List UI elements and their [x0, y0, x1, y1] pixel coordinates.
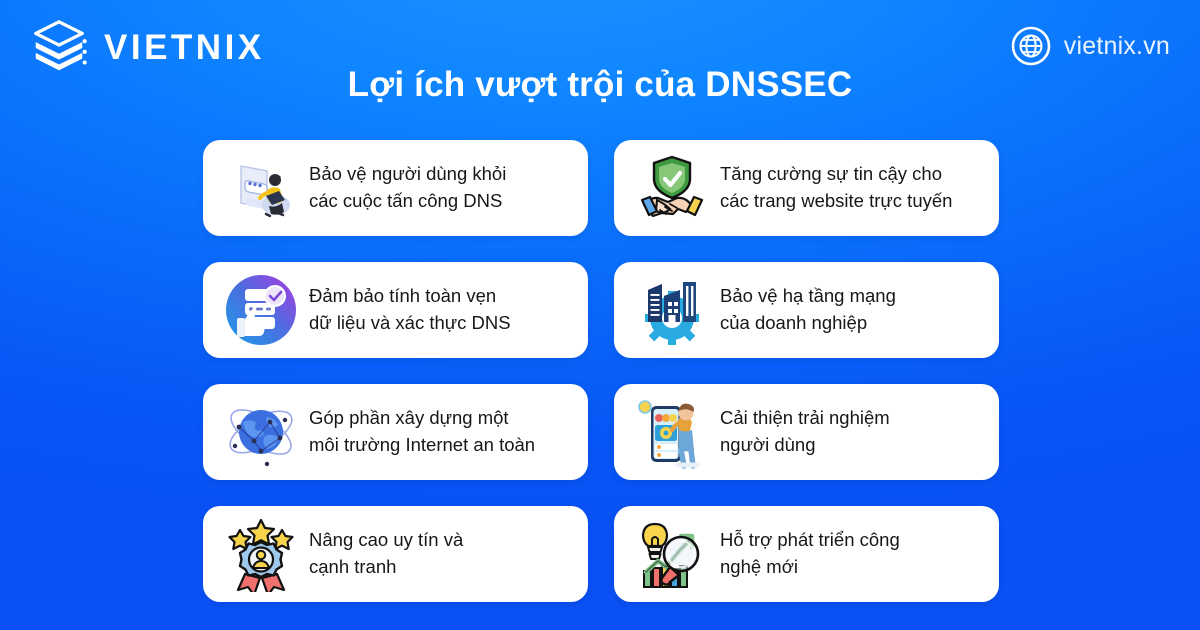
benefits-grid: Bảo vệ người dùng khỏi các cuộc tấn công… — [203, 140, 1003, 602]
site-url-text: vietnix.vn — [1064, 32, 1170, 61]
benefit-card: Bảo vệ người dùng khỏi các cuộc tấn công… — [203, 140, 588, 236]
globe-icon — [1011, 26, 1051, 66]
benefit-card-text: Góp phần xây dựng một môi trường Interne… — [309, 405, 535, 459]
benefit-line-1: Bảo vệ người dùng khỏi — [309, 161, 506, 188]
site-url-badge[interactable]: vietnix.vn — [1011, 26, 1170, 66]
benefit-line-2: nghệ mới — [720, 554, 900, 581]
infographic-poster: VIETNIX vietnix.vn Lợi ích vượt trội của… — [0, 0, 1200, 630]
benefit-line-2: các trang website trực tuyến — [720, 188, 952, 215]
poster-header: VIETNIX vietnix.vn Lợi ích vượt trội của… — [0, 0, 1200, 120]
mobile-satisfaction-rating-person-icon — [634, 394, 710, 470]
server-check-thumbsup-icon — [223, 272, 299, 348]
award-badge-stars-icon — [223, 516, 299, 592]
benefit-card-text: Bảo vệ hạ tầng mạng của doanh nghiệp — [720, 283, 896, 337]
benefit-card: Hỗ trợ phát triển công nghệ mới — [614, 506, 999, 602]
benefit-card: Bảo vệ hạ tầng mạng của doanh nghiệp — [614, 262, 999, 358]
benefit-line-2: của doanh nghiệp — [720, 310, 896, 337]
benefit-line-1: Tăng cường sự tin cậy cho — [720, 161, 952, 188]
benefit-line-2: người dùng — [720, 432, 890, 459]
brand-name: VIETNIX — [104, 30, 265, 65]
buildings-gear-icon — [634, 272, 710, 348]
benefit-line-1: Góp phần xây dựng một — [309, 405, 535, 432]
benefit-line-2: dữ liệu và xác thực DNS — [309, 310, 511, 337]
lightbulb-chart-magnifier-icon — [634, 516, 710, 592]
benefit-line-1: Đảm bảo tính toàn vẹn — [309, 283, 511, 310]
globe-network-orbit-icon — [223, 394, 299, 470]
shield-check-handshake-icon — [634, 150, 710, 226]
benefit-card-text: Bảo vệ người dùng khỏi các cuộc tấn công… — [309, 161, 506, 215]
benefit-line-2: cạnh tranh — [309, 554, 463, 581]
benefit-card-text: Tăng cường sự tin cậy cho các trang webs… — [720, 161, 952, 215]
benefit-line-1: Hỗ trợ phát triển công — [720, 527, 900, 554]
benefit-line-2: môi trường Internet an toàn — [309, 432, 535, 459]
benefit-card: Cải thiện trải nghiệm người dùng — [614, 384, 999, 480]
benefit-card: Đảm bảo tính toàn vẹn dữ liệu và xác thự… — [203, 262, 588, 358]
benefit-line-1: Nâng cao uy tín và — [309, 527, 463, 554]
person-laptop-chat-screen-icon — [223, 150, 299, 226]
benefit-card: Nâng cao uy tín và cạnh tranh — [203, 506, 588, 602]
benefit-card-text: Nâng cao uy tín và cạnh tranh — [309, 527, 463, 581]
page-title: Lợi ích vượt trội của DNSSEC — [0, 66, 1200, 105]
benefit-card: Góp phần xây dựng một môi trường Interne… — [203, 384, 588, 480]
benefit-card-text: Cải thiện trải nghiệm người dùng — [720, 405, 890, 459]
benefit-line-2: các cuộc tấn công DNS — [309, 188, 506, 215]
benefit-card-text: Hỗ trợ phát triển công nghệ mới — [720, 527, 900, 581]
benefit-card-text: Đảm bảo tính toàn vẹn dữ liệu và xác thự… — [309, 283, 511, 337]
benefit-line-1: Cải thiện trải nghiệm — [720, 405, 890, 432]
benefit-line-1: Bảo vệ hạ tầng mạng — [720, 283, 896, 310]
benefit-card: Tăng cường sự tin cậy cho các trang webs… — [614, 140, 999, 236]
